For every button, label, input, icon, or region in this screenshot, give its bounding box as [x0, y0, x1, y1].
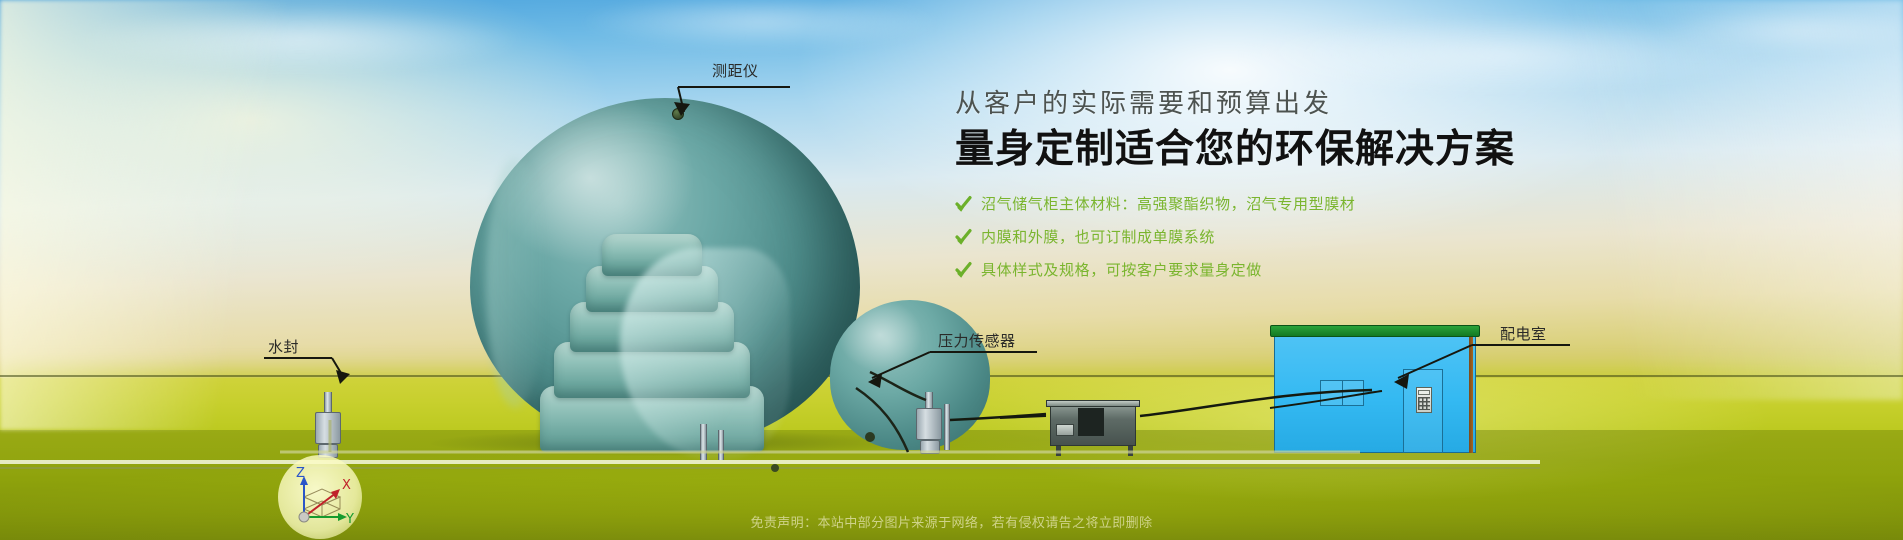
check-icon	[955, 228, 972, 245]
center-riser-1	[700, 424, 707, 460]
headline-subtitle: 从客户的实际需要和预算出发	[955, 88, 1595, 121]
marketing-text-block: 从客户的实际需要和预算出发 量身定制适合您的环保解决方案 沼气储气柜主体材料：高…	[955, 88, 1595, 292]
list-item: 具体样式及规格，可按客户要求量身定做	[955, 259, 1595, 280]
secondary-dome	[830, 300, 990, 450]
water-seal-body	[315, 412, 341, 444]
bullet-text: 具体样式及规格，可按客户要求量身定做	[981, 259, 1262, 280]
feature-bullet-list: 沼气储气柜主体材料：高强聚酯织物，沼气专用型膜材 内膜和外膜，也可订制成单膜系统…	[955, 193, 1595, 280]
left-sun-haze	[0, 0, 330, 430]
panel-buttons	[1418, 397, 1430, 410]
building-wall	[1274, 335, 1476, 453]
panel-display	[1418, 390, 1430, 395]
power-distribution-building	[1270, 325, 1480, 453]
gizmo-label-z: Z	[296, 466, 305, 481]
label-rangefinder: 测距仪	[712, 60, 759, 81]
rangefinder-device	[672, 108, 684, 120]
skid-leg-right	[1128, 446, 1133, 456]
building-window	[1320, 380, 1364, 406]
headline-main: 量身定制适合您的环保解决方案	[955, 127, 1595, 174]
skid-control-panel	[1056, 424, 1074, 436]
building-side-edge	[1469, 335, 1473, 453]
list-item: 内膜和外膜，也可订制成单膜系统	[955, 226, 1595, 247]
label-water-seal: 水封	[268, 336, 299, 357]
center-riser-2	[718, 430, 724, 460]
check-icon	[955, 195, 972, 212]
label-pressure-sensor: 压力传感器	[938, 330, 1016, 351]
check-icon	[955, 261, 972, 278]
gizmo-label-x: X	[342, 478, 351, 493]
building-roof	[1270, 325, 1480, 337]
skid-leg-left	[1056, 446, 1061, 456]
sensor-riser-2	[944, 404, 950, 450]
sensor-base	[920, 440, 940, 454]
biogas-banner: 测距仪 水封 压力传感器 配电室 Z Y X 从客户的实际需要和预算出发	[0, 0, 1903, 540]
skid-motor	[1078, 408, 1104, 436]
disclaimer-text: 免责声明：本站中部分图片来源于网络，若有侵权请告之将立即删除	[0, 512, 1903, 531]
bullet-text: 沼气储气柜主体材料：高强聚酯织物，沼气专用型膜材	[981, 193, 1355, 214]
skid-roof	[1046, 400, 1140, 407]
list-item: 沼气储气柜主体材料：高强聚酯织物，沼气专用型膜材	[955, 193, 1595, 214]
biogas-dome	[470, 98, 860, 448]
bullet-text: 内膜和外膜，也可订制成单膜系统	[981, 226, 1215, 247]
sensor-body	[916, 408, 942, 440]
label-power-room: 配电室	[1500, 323, 1547, 344]
